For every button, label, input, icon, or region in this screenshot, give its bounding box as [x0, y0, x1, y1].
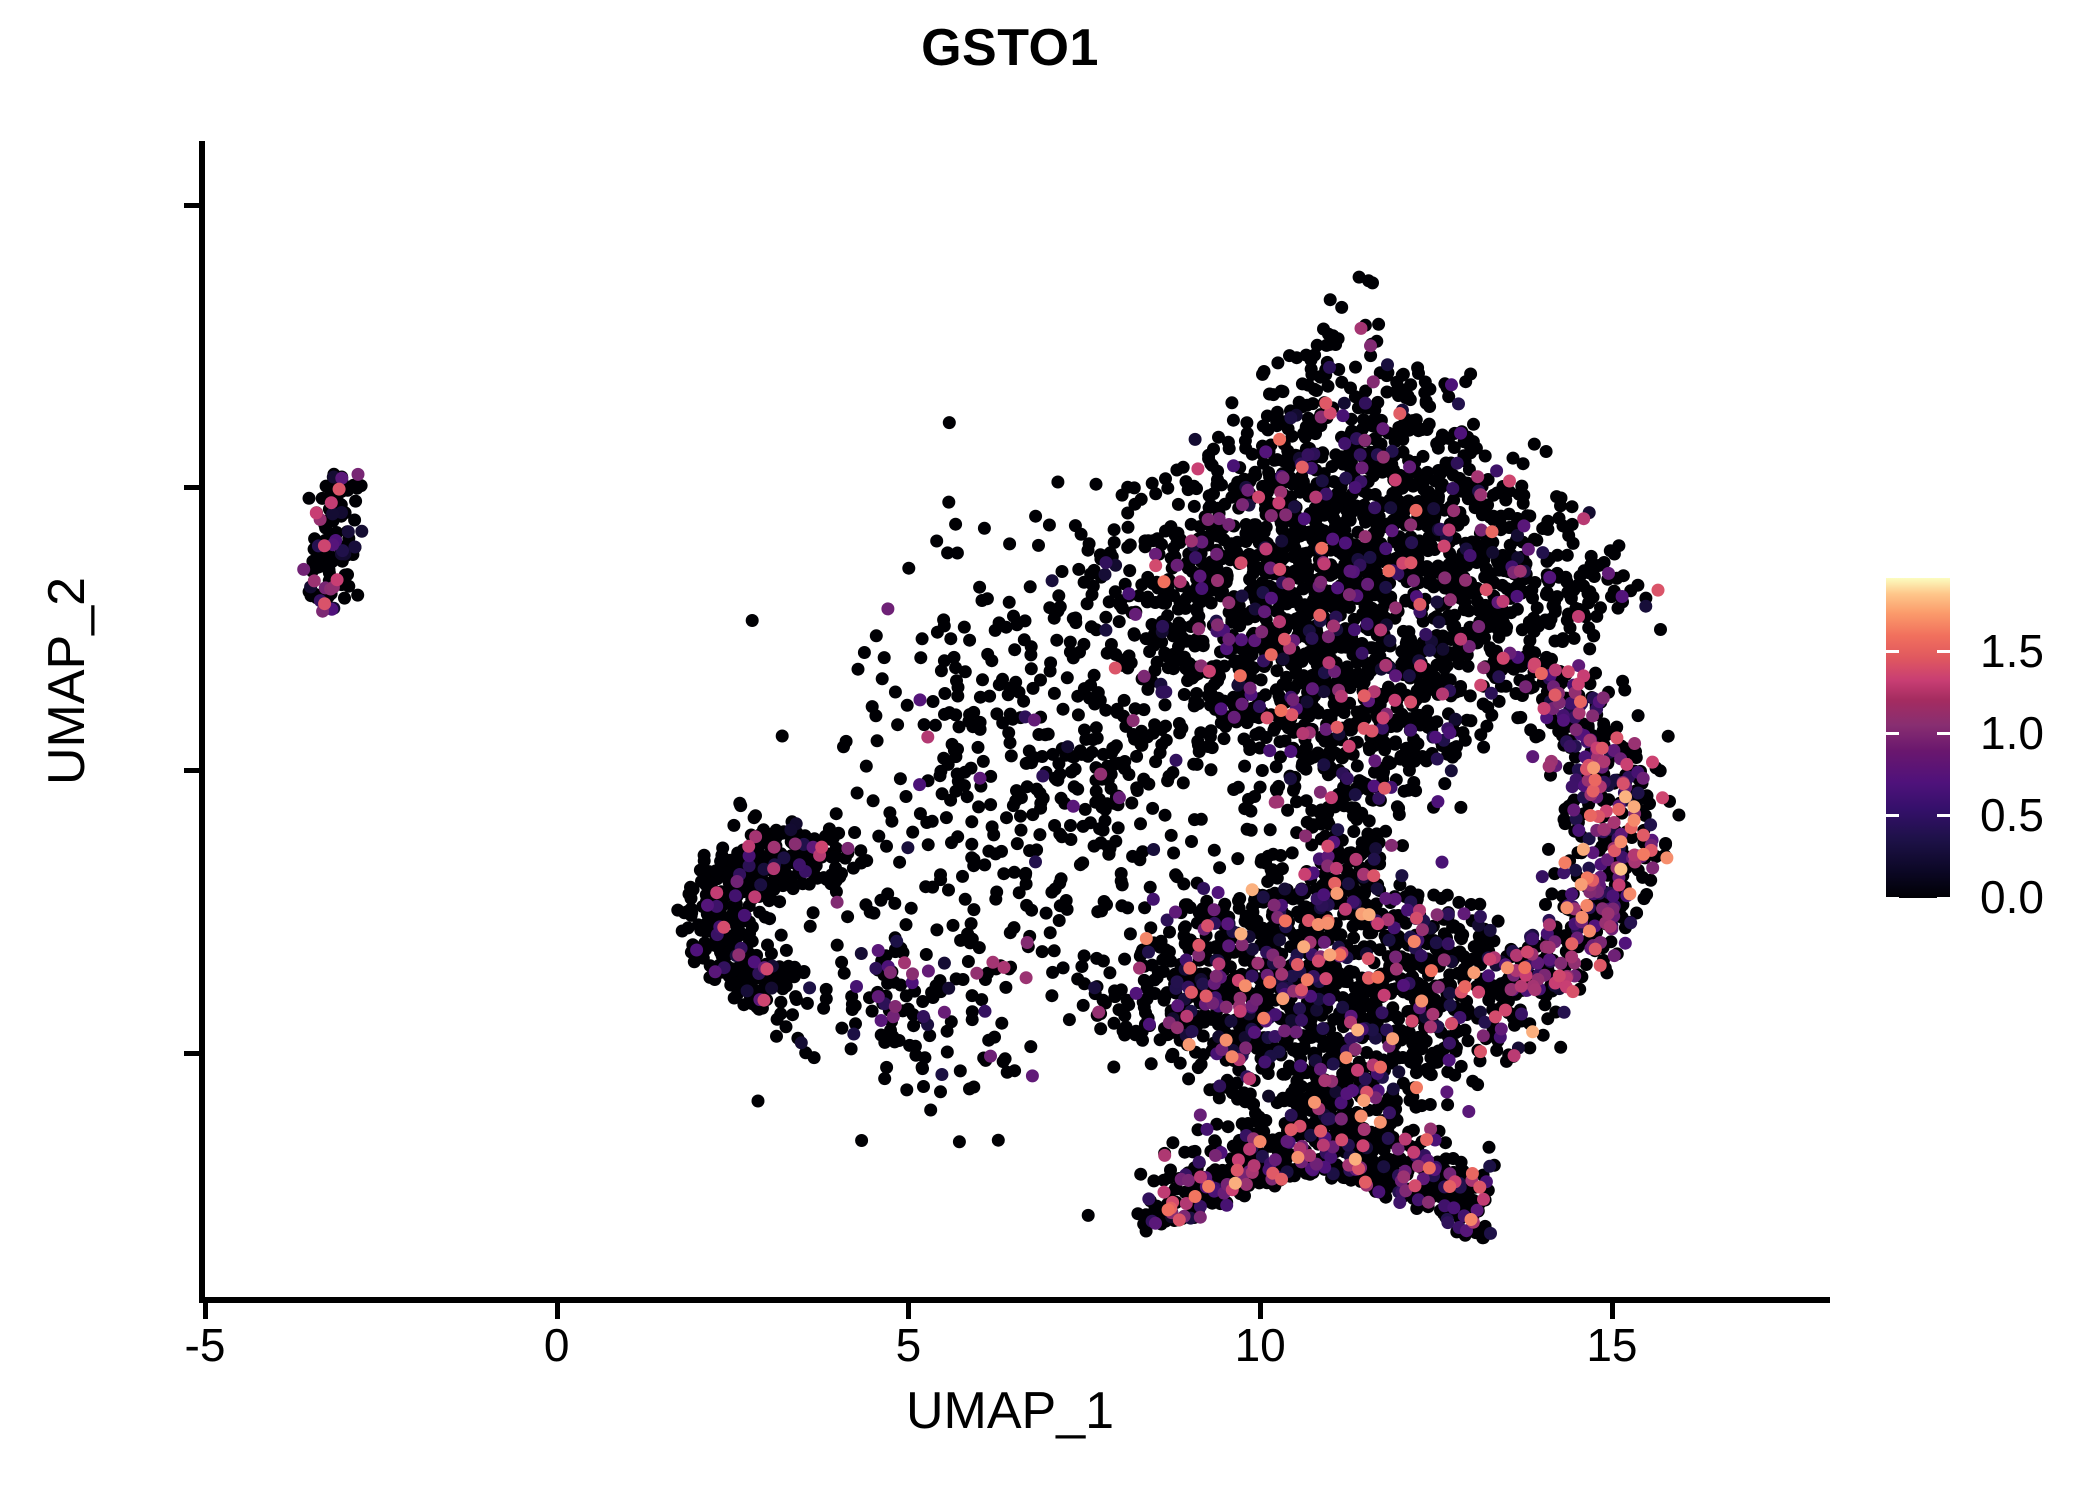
- scatter-point: [1188, 500, 1201, 513]
- scatter-point: [1282, 450, 1295, 463]
- scatter-point: [956, 870, 969, 883]
- scatter-point: [1250, 1042, 1263, 1055]
- scatter-point: [1107, 1061, 1120, 1074]
- scatter-point: [685, 892, 698, 905]
- scatter-point: [1057, 961, 1070, 974]
- scatter-point: [1205, 763, 1218, 776]
- scatter-point: [1032, 539, 1045, 552]
- scatter-point: [1640, 888, 1653, 901]
- scatter-point: [1435, 481, 1448, 494]
- scatter-point: [1185, 835, 1198, 848]
- scatter-point: [1436, 643, 1449, 656]
- scatter-point: [1182, 562, 1195, 575]
- scatter-point: [1349, 361, 1362, 374]
- scatter-point: [1472, 604, 1485, 617]
- scatter-point: [949, 708, 962, 721]
- scatter-point: [817, 1002, 830, 1015]
- scatter-point: [1314, 523, 1327, 536]
- scatter-point: [1339, 641, 1352, 654]
- scatter-point: [1484, 641, 1497, 654]
- scatter-point: [1324, 293, 1337, 306]
- scatter-point: [1072, 563, 1085, 576]
- scatter-point: [841, 910, 854, 923]
- scatter-point: [1190, 482, 1203, 495]
- scatter-point: [1381, 738, 1394, 751]
- scatter-point: [1050, 634, 1063, 647]
- scatter-point: [985, 654, 998, 667]
- scatter-point: [938, 654, 951, 667]
- scatter-point: [1018, 633, 1031, 646]
- scatter-point: [1024, 580, 1037, 593]
- scatter-point: [1500, 582, 1513, 595]
- scatter-point: [1275, 385, 1288, 398]
- scatter-point: [878, 1072, 891, 1085]
- scatter-point: [1401, 756, 1414, 769]
- scatter-point: [1276, 1092, 1289, 1105]
- scatter-point: [1407, 480, 1420, 493]
- scatter-point: [1061, 671, 1074, 684]
- scatter-point: [1286, 846, 1299, 859]
- scatter-point: [1644, 874, 1657, 887]
- scatter-point: [752, 1095, 765, 1108]
- scatter-point: [1064, 636, 1077, 649]
- scatter-point: [1128, 629, 1141, 642]
- scatter-point: [1043, 519, 1056, 532]
- scatter-point: [1662, 730, 1675, 743]
- scatter-point: [1108, 742, 1121, 755]
- scatter-point: [1029, 510, 1042, 523]
- scatter-point: [930, 535, 943, 548]
- scatter-point: [1063, 1013, 1076, 1026]
- scatter-point: [1390, 376, 1403, 389]
- scatter-point: [1172, 498, 1185, 511]
- scatter-point: [1008, 643, 1021, 656]
- scatter-point: [1356, 776, 1369, 789]
- scatter-point: [951, 830, 964, 843]
- scatter-point: [820, 983, 833, 996]
- scatter-point: [941, 1046, 954, 1059]
- scatter-point: [966, 1013, 979, 1026]
- scatter-point: [1334, 928, 1347, 941]
- scatter-point: [1108, 758, 1121, 771]
- page-title: GSTO1: [0, 22, 2020, 74]
- scatter-point: [1392, 802, 1405, 815]
- scatter-point: [716, 842, 729, 855]
- scatter-point: [732, 923, 745, 936]
- scatter-point: [851, 787, 864, 800]
- scatter-point: [1327, 475, 1340, 488]
- scatter-point: [1134, 1168, 1147, 1181]
- scatter-point: [988, 1031, 1001, 1044]
- scatter-point: [1256, 368, 1269, 381]
- scatter-point: [808, 1051, 821, 1064]
- umap-feature-plot: GSTO1 12840 -5051015 UMAP_2 UMAP_1 1.51.…: [0, 0, 2100, 1500]
- scatter-point: [944, 632, 957, 645]
- scatter-point: [1036, 750, 1049, 763]
- scatter-point: [972, 800, 985, 813]
- scatter-point: [1097, 994, 1110, 1007]
- scatter-point: [1167, 847, 1180, 860]
- scatter-point: [1523, 634, 1536, 647]
- scatter-point: [854, 844, 867, 857]
- scatter-point: [1400, 742, 1413, 755]
- scatter-point: [940, 811, 953, 824]
- scatter-point: [951, 547, 964, 560]
- scatter-point: [1311, 339, 1324, 352]
- scatter-point: [1154, 746, 1167, 759]
- scatter-point: [1291, 1046, 1304, 1059]
- scatter-point: [900, 1083, 913, 1096]
- scatter-point: [966, 933, 979, 946]
- scatter-point: [1466, 1075, 1479, 1088]
- scatter-point: [1239, 1095, 1252, 1108]
- scatter-point: [871, 734, 884, 747]
- scatter-point: [1417, 450, 1430, 463]
- scatter-point: [900, 790, 913, 803]
- scatter-point: [1394, 541, 1407, 554]
- scatter-point: [1479, 450, 1492, 463]
- scatter-point: [972, 741, 985, 754]
- scatter-point: [1582, 566, 1595, 579]
- scatter-point: [1166, 766, 1179, 779]
- scatter-point: [1270, 784, 1283, 797]
- scatter-point: [1008, 921, 1021, 934]
- scatter-point: [918, 718, 931, 731]
- scatter-point: [907, 1019, 920, 1032]
- scatter-point: [1449, 748, 1462, 761]
- scatter-point: [1231, 852, 1244, 865]
- scatter-point: [830, 807, 843, 820]
- scatter-point: [827, 851, 840, 864]
- scatter-point: [1248, 790, 1261, 803]
- scatter-point: [1045, 989, 1058, 1002]
- scatter-point: [894, 772, 907, 785]
- scatter-point: [1178, 688, 1191, 701]
- scatter-point: [727, 819, 740, 832]
- scatter-point: [1187, 758, 1200, 771]
- scatter-point: [1248, 518, 1261, 531]
- scatter-point: [1297, 475, 1310, 488]
- scatter-point: [1072, 708, 1085, 721]
- scatter-point: [1053, 877, 1066, 890]
- scatter-point: [1474, 728, 1487, 741]
- scatter-point: [1412, 367, 1425, 380]
- scatter-point: [1090, 721, 1103, 734]
- scatter-point: [941, 1025, 954, 1038]
- scatter-point: [1511, 711, 1524, 724]
- scatter-point: [942, 884, 955, 897]
- scatter-point: [1032, 728, 1045, 741]
- scatter-point: [776, 730, 789, 743]
- scatter-point: [1464, 368, 1477, 381]
- scatter-point: [1134, 817, 1147, 830]
- scatter-point: [1347, 825, 1360, 838]
- scatter-point: [1055, 830, 1068, 843]
- scatter-point: [958, 766, 971, 779]
- scatter-point: [1462, 660, 1475, 673]
- scatter-point: [1121, 541, 1134, 554]
- scatter-point: [1278, 551, 1291, 564]
- scatter-point: [1227, 414, 1240, 427]
- scatter-point: [1343, 718, 1356, 731]
- scatter-point: [1484, 988, 1497, 1001]
- scatter-point: [909, 1040, 922, 1053]
- scatter-point: [1167, 589, 1180, 602]
- scatter-point: [929, 719, 942, 732]
- scatter-point: [676, 925, 689, 938]
- scatter-point: [922, 838, 935, 851]
- scatter-point: [1203, 489, 1216, 502]
- scatter-point: [1159, 720, 1172, 733]
- scatter-point: [1550, 490, 1563, 503]
- scatter-point: [1368, 766, 1381, 779]
- scatter-point: [1329, 747, 1342, 760]
- scatter-point: [1097, 824, 1110, 837]
- scatter-point: [1342, 669, 1355, 682]
- scatter-point: [1511, 603, 1524, 616]
- scatter-point: [1654, 623, 1667, 636]
- scatter-point: [1165, 1050, 1178, 1063]
- scatter-point: [1225, 537, 1238, 550]
- scatter-point: [1049, 772, 1062, 785]
- scatter-point: [864, 906, 877, 919]
- scatter-point: [1017, 695, 1030, 708]
- scatter-point: [1438, 777, 1451, 790]
- scatter-point: [1011, 618, 1024, 631]
- scatter-point: [891, 718, 904, 731]
- scatter-point: [958, 621, 971, 634]
- scatter-point: [1493, 564, 1506, 577]
- scatter-point: [1165, 829, 1178, 842]
- scatter-point: [1191, 604, 1204, 617]
- scatter-point: [1128, 498, 1141, 511]
- scatter-point: [1146, 802, 1159, 815]
- scatter-point: [1118, 953, 1131, 966]
- scatter-point: [1188, 813, 1201, 826]
- scatter-point: [1170, 654, 1183, 667]
- scatter-point: [957, 973, 970, 986]
- scatter-point: [1085, 620, 1098, 633]
- scatter-point: [1116, 878, 1129, 891]
- scatter-point: [1019, 869, 1032, 882]
- scatter-point: [1273, 933, 1286, 946]
- scatter-point: [919, 880, 932, 893]
- scatter-point: [1086, 733, 1099, 746]
- scatter-point: [1279, 1068, 1292, 1081]
- scatter-point: [1171, 537, 1184, 550]
- scatter-point: [1545, 613, 1558, 626]
- scatter-point: [832, 827, 845, 840]
- scatter-point: [1117, 1025, 1130, 1038]
- scatter-point: [999, 981, 1012, 994]
- scatter-point: [977, 755, 990, 768]
- scatter-point: [1441, 1098, 1454, 1111]
- scatter-point: [1257, 457, 1270, 470]
- scatter-point: [1292, 1082, 1305, 1095]
- scatter-point: [1310, 384, 1323, 397]
- scatter-point: [1395, 420, 1408, 433]
- scatter-point: [1182, 1072, 1195, 1085]
- scatter-point: [1490, 1044, 1503, 1057]
- scatter-point: [1015, 824, 1028, 837]
- scatter-point: [796, 877, 809, 890]
- scatter-point: [1452, 896, 1465, 909]
- scatter-point: [1040, 907, 1053, 920]
- scatter-point: [1381, 386, 1394, 399]
- scatter-point: [938, 687, 951, 700]
- scatter-point: [1296, 377, 1309, 390]
- scatter-point: [1407, 639, 1420, 652]
- scatter-point: [1067, 651, 1080, 664]
- scatter-point: [1273, 692, 1286, 705]
- scatter-point: [1249, 728, 1262, 741]
- scatter-point: [1483, 1141, 1496, 1154]
- scatter-point: [1372, 318, 1385, 331]
- scatter-point: [958, 779, 971, 792]
- scatter-point: [804, 920, 817, 933]
- scatter-point: [1477, 698, 1490, 711]
- scatter-point: [942, 496, 955, 509]
- scatter-point: [1064, 819, 1077, 832]
- scatter-point: [983, 690, 996, 703]
- scatter-point: [1382, 755, 1395, 768]
- scatter-point: [1545, 887, 1558, 900]
- scatter-point: [889, 686, 902, 699]
- scatter-point: [1121, 662, 1134, 675]
- scatter-point: [1000, 621, 1013, 634]
- scatter-point: [1476, 508, 1489, 521]
- scatter-point: [1003, 537, 1016, 550]
- scatter-point: [938, 708, 951, 721]
- scatter-point: [1137, 773, 1150, 786]
- scatter-point: [1352, 500, 1365, 513]
- scatter-point: [349, 495, 362, 508]
- scatter-point: [996, 716, 1009, 729]
- scatter-point: [1412, 424, 1425, 437]
- scatter-point: [1071, 783, 1084, 796]
- scatter-point: [1172, 603, 1185, 616]
- scatter-point: [1542, 843, 1555, 856]
- scatter-point: [1517, 489, 1530, 502]
- plot-panel: [205, 141, 1830, 1300]
- scatter-point: [976, 673, 989, 686]
- scatter-point: [1008, 1064, 1021, 1077]
- scatter-point: [1322, 328, 1335, 341]
- scatter-point: [974, 723, 987, 736]
- scatter-point: [1108, 523, 1121, 536]
- scatter-point: [967, 903, 980, 916]
- scatter-point: [1347, 809, 1360, 822]
- scatter-point: [671, 904, 684, 917]
- scatter-point: [1485, 709, 1498, 722]
- scatter-point: [1422, 715, 1435, 728]
- scatter-point: [866, 1005, 879, 1018]
- scatter-point: [878, 651, 891, 664]
- scatter-point: [1587, 629, 1600, 642]
- scatter-point: [1144, 881, 1157, 894]
- scatter-point: [1507, 452, 1520, 465]
- scatter-point: [1540, 445, 1553, 458]
- scatter-point: [1318, 509, 1331, 522]
- scatter-point: [1158, 994, 1171, 1007]
- scatter-point: [1109, 835, 1122, 848]
- scatter-point: [1583, 642, 1596, 655]
- scatter-point: [930, 923, 943, 936]
- scatter-point: [1360, 1046, 1373, 1059]
- scatter-point: [733, 797, 746, 810]
- scatter-point: [954, 1064, 967, 1077]
- scatter-point: [1173, 726, 1186, 739]
- scatter-point: [1464, 714, 1477, 727]
- scatter-point: [951, 743, 964, 756]
- scatter-point: [1141, 683, 1154, 696]
- scatter-point: [338, 592, 351, 605]
- scatter-point: [959, 893, 972, 906]
- scatter-point: [992, 1134, 1005, 1147]
- scatter-point: [881, 977, 894, 990]
- scatter-point: [1296, 760, 1309, 773]
- scatter-point: [1086, 746, 1099, 759]
- scatter-point: [967, 1081, 980, 1094]
- scatter-point: [748, 811, 761, 824]
- scatter-point: [1397, 625, 1410, 638]
- scatter-point: [990, 886, 1003, 899]
- scatter-point: [1363, 743, 1376, 756]
- scatter-point: [1267, 724, 1280, 737]
- scatter-point: [902, 1003, 915, 1016]
- scatter-points-layer: [205, 141, 1830, 1300]
- scatter-point: [753, 906, 766, 919]
- scatter-point: [1240, 910, 1253, 923]
- scatter-point: [1161, 482, 1174, 495]
- scatter-point: [1300, 599, 1313, 612]
- scatter-point: [1491, 487, 1504, 500]
- scatter-point: [1166, 1136, 1179, 1149]
- scatter-point: [900, 918, 913, 931]
- scatter-point: [1020, 757, 1033, 770]
- scatter-point: [1069, 763, 1082, 776]
- scatter-point: [1238, 802, 1251, 815]
- scatter-point: [934, 873, 947, 886]
- scatter-point: [1477, 741, 1490, 754]
- scatter-point: [1192, 1061, 1205, 1074]
- scatter-point: [1290, 351, 1303, 364]
- scatter-point: [1365, 985, 1378, 998]
- scatter-point: [906, 826, 919, 839]
- scatter-point: [952, 681, 965, 694]
- scatter-point: [1241, 427, 1254, 440]
- scatter-point: [953, 1135, 966, 1148]
- scatter-point: [1672, 809, 1685, 822]
- scatter-point: [965, 838, 978, 851]
- scatter-point: [973, 581, 986, 594]
- scatter-point: [1206, 459, 1219, 472]
- scatter-point: [1128, 481, 1141, 494]
- scatter-point: [1561, 522, 1574, 535]
- scatter-point: [1000, 811, 1013, 824]
- scatter-point: [1222, 1120, 1235, 1133]
- scatter-point: [1492, 615, 1505, 628]
- scatter-point: [1099, 611, 1112, 624]
- scatter-point: [1232, 781, 1245, 794]
- scatter-point: [1291, 668, 1304, 681]
- scatter-point: [1406, 1048, 1419, 1061]
- scatter-point: [1079, 803, 1092, 816]
- scatter-point: [855, 1134, 868, 1147]
- scatter-point: [916, 1062, 929, 1075]
- scatter-point: [916, 632, 929, 645]
- scatter-point: [1335, 301, 1348, 314]
